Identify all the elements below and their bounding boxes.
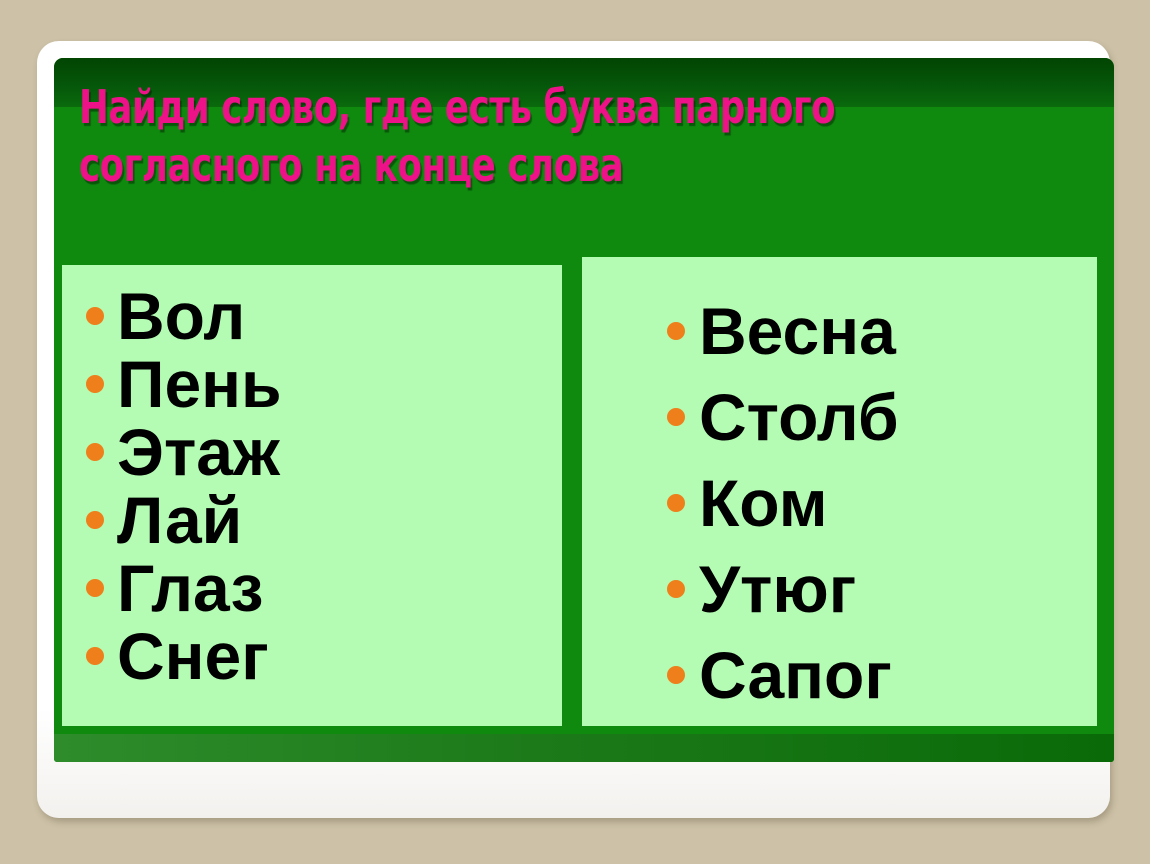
word-panel-right: Весна Столб Ком Утюг Сапог xyxy=(582,257,1097,726)
word-label: Утюг xyxy=(699,546,856,632)
list-item[interactable]: Сапог xyxy=(667,632,1114,718)
orange-dot-bullet-icon xyxy=(667,666,685,684)
list-item[interactable]: Вол xyxy=(86,282,586,350)
word-label: Вол xyxy=(117,282,245,350)
list-item[interactable]: Снег xyxy=(86,622,586,690)
word-list-left: Вол Пень Этаж Лай Глаз xyxy=(62,265,586,743)
orange-dot-bullet-icon xyxy=(86,511,104,529)
word-label: Столб xyxy=(699,374,899,460)
word-label: Весна xyxy=(699,288,896,374)
word-label: Лай xyxy=(117,486,242,554)
list-item[interactable]: Утюг xyxy=(667,546,1114,632)
list-item[interactable]: Столб xyxy=(667,374,1114,460)
word-label: Снег xyxy=(117,622,269,690)
list-item[interactable]: Лай xyxy=(86,486,586,554)
word-list-right: Весна Столб Ком Утюг Сапог xyxy=(582,257,1114,757)
orange-dot-bullet-icon xyxy=(667,580,685,598)
list-item[interactable]: Этаж xyxy=(86,418,586,486)
word-panel-left: Вол Пень Этаж Лай Глаз xyxy=(62,265,562,726)
board-bottom-gradient-band xyxy=(54,734,1114,762)
orange-dot-bullet-icon xyxy=(667,494,685,512)
orange-dot-bullet-icon xyxy=(667,408,685,426)
orange-dot-bullet-icon xyxy=(86,443,104,461)
list-item[interactable]: Глаз xyxy=(86,554,586,622)
slide-title: Найди слово, где есть буква парного согл… xyxy=(79,78,853,194)
word-label: Этаж xyxy=(117,418,280,486)
orange-dot-bullet-icon xyxy=(86,375,104,393)
orange-dot-bullet-icon xyxy=(667,322,685,340)
word-label: Сапог xyxy=(699,632,892,718)
green-content-board: Найди слово, где есть буква парного согл… xyxy=(54,58,1114,762)
list-item[interactable]: Весна xyxy=(667,288,1114,374)
word-label: Ком xyxy=(699,460,828,546)
orange-dot-bullet-icon xyxy=(86,307,104,325)
list-item[interactable]: Пень xyxy=(86,350,586,418)
orange-dot-bullet-icon xyxy=(86,647,104,665)
slide-card: Найди слово, где есть буква парного согл… xyxy=(37,41,1110,818)
list-item[interactable]: Ком xyxy=(667,460,1114,546)
word-label: Глаз xyxy=(117,554,263,622)
orange-dot-bullet-icon xyxy=(86,579,104,597)
word-label: Пень xyxy=(117,350,282,418)
